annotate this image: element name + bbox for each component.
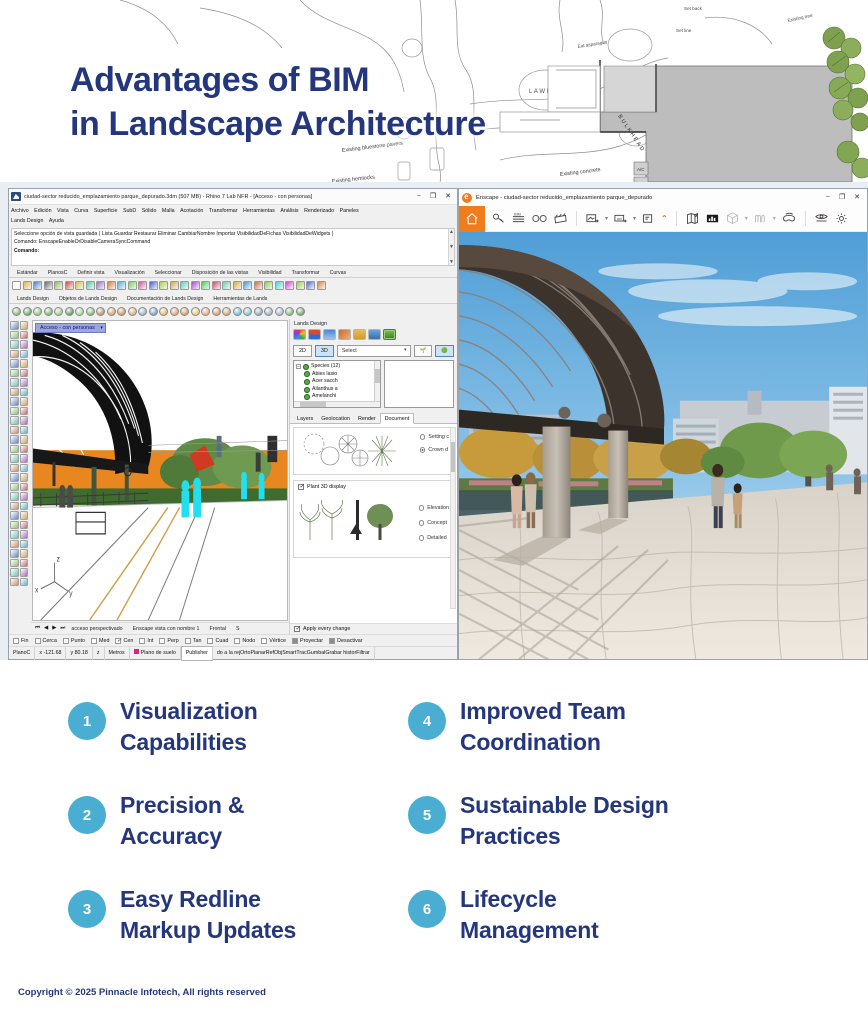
left-tool-icon-29[interactable] bbox=[20, 454, 29, 463]
left-tool-icon-6[interactable] bbox=[10, 350, 19, 359]
toolbar-tab-0[interactable]: Estándar bbox=[12, 269, 43, 277]
menu-item-4[interactable]: Superficie bbox=[94, 206, 118, 216]
osnap-checkbox bbox=[139, 638, 145, 644]
left-tool-icon-35[interactable] bbox=[20, 483, 29, 492]
rhino-viewport[interactable]: Acceso - con personas bbox=[32, 320, 288, 621]
home-icon[interactable] bbox=[459, 206, 485, 232]
standard-tool-icon-17[interactable] bbox=[191, 281, 200, 290]
status-layer[interactable]: Plano de suelo bbox=[130, 647, 181, 660]
left-tool-icon-41[interactable] bbox=[20, 511, 29, 520]
osnap-checkbox bbox=[234, 638, 240, 644]
chevron-down-icon-3[interactable]: ▾ bbox=[745, 215, 748, 222]
standard-tool-icon-12[interactable] bbox=[138, 281, 147, 290]
rhino-left-toolbar[interactable] bbox=[9, 319, 31, 634]
plants-icon[interactable] bbox=[383, 329, 396, 340]
snap-toggle-1[interactable]: Orto bbox=[240, 647, 250, 660]
scroll-down-icon[interactable]: ▼ bbox=[449, 244, 454, 250]
export-panorama-icon[interactable]: 360 bbox=[613, 211, 628, 226]
advantage-number-4: 4 bbox=[408, 702, 446, 740]
lands-tool-icon-27[interactable] bbox=[296, 307, 305, 316]
osnap-label: Cen bbox=[123, 638, 133, 644]
radio-detailed[interactable]: Detailed bbox=[419, 535, 449, 541]
lands-tool-icon-12[interactable] bbox=[138, 307, 147, 316]
toolbar-tab-5[interactable]: Disposición de las vistas bbox=[187, 269, 254, 277]
enscape-toolbar[interactable]: BIM ▾ 360 bbox=[459, 206, 867, 232]
lands-tool-icon-9[interactable] bbox=[107, 307, 116, 316]
left-tool-icon-12[interactable] bbox=[10, 378, 19, 387]
viewport-view-3[interactable]: S bbox=[236, 626, 240, 632]
plant-3d-display-checkbox[interactable]: Plant 3D display bbox=[298, 484, 449, 490]
osnap-desactivar[interactable]: Desactivar bbox=[329, 638, 362, 644]
osnap-label: Punto bbox=[71, 638, 85, 644]
vr-icon[interactable] bbox=[781, 211, 797, 226]
minimize-icon[interactable]: − bbox=[826, 194, 830, 201]
left-tool-icon-2[interactable] bbox=[10, 331, 19, 340]
species-tree-scrollbar[interactable] bbox=[374, 361, 380, 401]
scroll-more-icon[interactable]: ▼ bbox=[449, 259, 454, 265]
osnap-med[interactable]: Med bbox=[91, 638, 110, 644]
apply-plant-button[interactable]: 🟢 bbox=[435, 345, 454, 357]
osnap-checkbox bbox=[63, 638, 69, 644]
menu-item-10[interactable]: Herramientas bbox=[243, 206, 275, 216]
enscape-tool-icons[interactable]: BIM ▾ 360 bbox=[485, 211, 849, 226]
mode-2d-button[interactable]: 2D bbox=[293, 345, 312, 357]
osnap-cen[interactable]: Cen bbox=[115, 638, 133, 644]
standard-tool-icon-5[interactable] bbox=[65, 281, 74, 290]
left-tool-icon-53[interactable] bbox=[20, 568, 29, 577]
species-item-1[interactable]: Acer sacch bbox=[296, 378, 378, 386]
standard-tool-icon-2[interactable] bbox=[33, 281, 42, 290]
standard-tool-icon-27[interactable] bbox=[296, 281, 305, 290]
standard-tool-icon-25[interactable] bbox=[275, 281, 284, 290]
menu-item-2-0[interactable]: Lands Design bbox=[11, 216, 43, 226]
left-tool-icon-52[interactable] bbox=[10, 568, 19, 577]
lands-tool-icon-24[interactable] bbox=[264, 307, 273, 316]
viewport-view-0[interactable]: acceso perspectivado bbox=[71, 626, 122, 632]
standard-tool-icon-18[interactable] bbox=[201, 281, 210, 290]
species-tree-root[interactable]: − Species (12) bbox=[296, 363, 378, 371]
video-icon[interactable] bbox=[531, 211, 548, 226]
toolbar-tab-2[interactable]: Definir vista bbox=[72, 269, 109, 277]
left-tool-icon-5[interactable] bbox=[20, 340, 29, 349]
menu-item-2-1[interactable]: Ayuda bbox=[49, 216, 64, 226]
left-tool-icon-48[interactable] bbox=[10, 549, 19, 558]
close-icon[interactable]: ✕ bbox=[854, 194, 860, 201]
viewport-arrow-0[interactable]: ⏮ bbox=[35, 625, 40, 632]
panel-document-tabs[interactable]: LayersGeolocationRenderDocument bbox=[290, 411, 457, 424]
view-icon[interactable] bbox=[814, 211, 829, 226]
rhino-osnap-bar[interactable]: FinCercaPuntoMedCenIntPerpTanCuadNodoVér… bbox=[9, 634, 457, 646]
left-tool-icon-43[interactable] bbox=[20, 521, 29, 530]
snap-toggle-4[interactable]: SmartTrac bbox=[282, 647, 307, 660]
standard-tool-icon-29[interactable] bbox=[317, 281, 326, 290]
apply-every-change-checkbox[interactable]: Apply every change bbox=[294, 626, 453, 632]
menu-item-13[interactable]: Paneles bbox=[340, 206, 359, 216]
left-tool-icon-44[interactable] bbox=[10, 530, 19, 539]
left-tool-icon-11[interactable] bbox=[20, 369, 29, 378]
svg-text:BIM: BIM bbox=[514, 212, 521, 216]
lands-tool-icon-26[interactable] bbox=[285, 307, 294, 316]
snap-toggle-5[interactable]: Gumbal bbox=[307, 647, 326, 660]
standard-tool-icon-23[interactable] bbox=[254, 281, 263, 290]
lands-tool-icon-7[interactable] bbox=[86, 307, 95, 316]
tree-expand-toggle[interactable]: − bbox=[296, 364, 301, 369]
page-title-line1: Advantages of BIM bbox=[70, 58, 486, 102]
left-tool-icon-16[interactable] bbox=[10, 397, 19, 406]
standard-tool-icon-19[interactable] bbox=[212, 281, 221, 290]
menu-item-2[interactable]: Vista bbox=[57, 206, 69, 216]
standard-tool-icon-22[interactable] bbox=[243, 281, 252, 290]
left-tool-icon-27[interactable] bbox=[20, 445, 29, 454]
advantage-number-6: 6 bbox=[408, 890, 446, 928]
osnap-cuad[interactable]: Cuad bbox=[207, 638, 228, 644]
standard-tool-icon-21[interactable] bbox=[233, 281, 242, 290]
left-tool-icon-21[interactable] bbox=[20, 416, 29, 425]
left-tool-icon-0[interactable] bbox=[10, 321, 19, 330]
lands-tool-icon-18[interactable] bbox=[201, 307, 210, 316]
left-tool-icon-22[interactable] bbox=[10, 426, 19, 435]
left-tool-icon-55[interactable] bbox=[20, 578, 29, 587]
advantage-5-line1: Sustainable Design bbox=[460, 790, 669, 821]
panel-document-content: Setting c Crown d Plant bbox=[290, 424, 457, 623]
toolbar-tab-8[interactable]: Curvas bbox=[325, 269, 351, 277]
snap-toggle-2[interactable]: Planar bbox=[250, 647, 265, 660]
left-tool-icon-54[interactable] bbox=[10, 578, 19, 587]
osnap-vértice[interactable]: Vértice bbox=[261, 638, 286, 644]
left-tool-icon-45[interactable] bbox=[20, 530, 29, 539]
asset-icon[interactable] bbox=[753, 211, 768, 226]
radio-setting[interactable]: Setting c bbox=[420, 434, 449, 440]
left-tool-icon-18[interactable] bbox=[10, 407, 19, 416]
standard-tool-icon-4[interactable] bbox=[54, 281, 63, 290]
plant-3d-radio-group[interactable]: Elevation Concept Detailed bbox=[419, 505, 449, 541]
panel-tab-layers[interactable]: Layers bbox=[293, 414, 317, 423]
viewport-nav-items[interactable]: acceso perspectivadoEnscape vista con no… bbox=[71, 626, 239, 632]
lands-tool-icon-19[interactable] bbox=[212, 307, 221, 316]
toolbar-tab-7[interactable]: Transformar bbox=[287, 269, 325, 277]
left-tool-icon-4[interactable] bbox=[10, 340, 19, 349]
viewport-scene: z x y bbox=[33, 321, 287, 620]
left-tool-icon-36[interactable] bbox=[10, 492, 19, 501]
left-tool-icon-10[interactable] bbox=[10, 369, 19, 378]
left-tool-icon-25[interactable] bbox=[20, 435, 29, 444]
left-tool-icon-33[interactable] bbox=[20, 473, 29, 482]
snap-toggle-7[interactable]: Filtrar bbox=[356, 647, 370, 660]
panel-tab-geolocation[interactable]: Geolocation bbox=[317, 414, 354, 423]
left-tool-icon-19[interactable] bbox=[20, 407, 29, 416]
advantage-item-2: 2 Precision & Accuracy bbox=[68, 790, 244, 852]
lands-tab-1[interactable]: Objetos de Lands Design bbox=[54, 295, 122, 303]
export-exe-icon[interactable] bbox=[641, 211, 656, 226]
menu-item-11[interactable]: Análisis bbox=[280, 206, 298, 216]
menu-item-0[interactable]: Archivo bbox=[11, 206, 29, 216]
lands-tab-2[interactable]: Documentación de Lands Design bbox=[122, 295, 208, 303]
left-tool-icon-46[interactable] bbox=[10, 540, 19, 549]
scroll-up-icon[interactable]: ▲ bbox=[449, 229, 454, 235]
panel-mode-row: 2D 3D Select 🌱 🟢 bbox=[290, 342, 457, 360]
lights-icon[interactable] bbox=[323, 329, 336, 340]
radio-setting-dot bbox=[420, 434, 426, 440]
osnap-int[interactable]: Int bbox=[139, 638, 153, 644]
osnap-proyectar[interactable]: Proyectar bbox=[292, 638, 323, 644]
eyedropper-icon[interactable] bbox=[338, 329, 351, 340]
minimize-icon[interactable]: − bbox=[417, 193, 421, 200]
advantages-list: 1 Visualization Capabilities 2 Precision… bbox=[0, 668, 868, 968]
command-scrollbar[interactable]: ▲ ▼ ▼ bbox=[448, 229, 454, 265]
viewport-view-2[interactable]: Frontal bbox=[209, 626, 226, 632]
species-leaf-icon bbox=[304, 394, 310, 400]
insert-plant-button[interactable]: 🌱 bbox=[414, 345, 433, 357]
rhino-toolbar-icons-2[interactable] bbox=[9, 304, 457, 319]
left-tool-icon-51[interactable] bbox=[20, 559, 29, 568]
lands-tool-icon-13[interactable] bbox=[149, 307, 158, 316]
standard-tool-icon-6[interactable] bbox=[75, 281, 84, 290]
panel-tab-icons[interactable] bbox=[290, 329, 457, 342]
left-tool-icon-39[interactable] bbox=[20, 502, 29, 511]
lands-tool-icon-21[interactable] bbox=[233, 307, 242, 316]
lands-tool-icon-5[interactable] bbox=[65, 307, 74, 316]
map-icon[interactable] bbox=[685, 211, 700, 226]
toolbar-tab-1[interactable]: PlanosC bbox=[43, 269, 73, 277]
osnap-label: Nodo bbox=[242, 638, 255, 644]
osnap-fin[interactable]: Fin bbox=[13, 638, 29, 644]
lands-tool-icon-2[interactable] bbox=[33, 307, 42, 316]
cube-icon[interactable] bbox=[725, 211, 740, 226]
lands-tool-icon-25[interactable] bbox=[275, 307, 284, 316]
left-tool-icon-15[interactable] bbox=[20, 388, 29, 397]
left-tool-icon-38[interactable] bbox=[10, 502, 19, 511]
left-tool-icon-8[interactable] bbox=[10, 359, 19, 368]
lands-tool-icon-1[interactable] bbox=[23, 307, 32, 316]
left-tool-icon-47[interactable] bbox=[20, 540, 29, 549]
lands-tool-icon-8[interactable] bbox=[96, 307, 105, 316]
radio-concept-dot bbox=[419, 520, 425, 526]
osnap-label: Med bbox=[99, 638, 110, 644]
lands-tool-icon-20[interactable] bbox=[222, 307, 231, 316]
chevron-down-icon[interactable]: ▾ bbox=[605, 215, 608, 222]
advantage-item-1: 1 Visualization Capabilities bbox=[68, 696, 258, 758]
viewport-name-dropdown[interactable]: Acceso - con personas bbox=[35, 323, 106, 333]
status-units: Metros bbox=[105, 647, 130, 660]
toolbar-tab-4[interactable]: Seleccionar bbox=[150, 269, 187, 277]
rhino-toolbar-tabs-2[interactable]: Lands DesignObjetos de Lands DesignDocum… bbox=[9, 293, 457, 304]
standard-tool-icon-15[interactable] bbox=[170, 281, 179, 290]
species-tree-hscrollbar[interactable] bbox=[294, 401, 380, 407]
viewport-arrow-1[interactable]: ◀ bbox=[44, 625, 48, 632]
standard-tool-icon-11[interactable] bbox=[128, 281, 137, 290]
export-image-icon[interactable] bbox=[585, 211, 600, 226]
plant-2d-radio-group[interactable]: Setting c Crown d bbox=[420, 434, 449, 453]
rhino-command-area[interactable]: Seleccione opción de vista guardada ( Li… bbox=[11, 228, 455, 266]
lands-tool-icon-10[interactable] bbox=[117, 307, 126, 316]
osnap-cerca[interactable]: Cerca bbox=[35, 638, 57, 644]
maximize-icon[interactable]: ❐ bbox=[430, 193, 436, 200]
left-tool-icon-26[interactable] bbox=[10, 445, 19, 454]
left-tool-icon-13[interactable] bbox=[20, 378, 29, 387]
advantage-2-line1: Precision & bbox=[120, 790, 244, 821]
standard-tool-icon-7[interactable] bbox=[86, 281, 95, 290]
left-tool-icon-1[interactable] bbox=[20, 321, 29, 330]
osnap-label: Desactivar bbox=[337, 638, 362, 644]
viewport-arrow-2[interactable]: ▶ bbox=[52, 625, 56, 632]
lands-tool-icon-22[interactable] bbox=[243, 307, 252, 316]
toolbar-tab-6[interactable]: Visibilidad bbox=[253, 269, 286, 277]
bim-icon[interactable]: BIM bbox=[511, 211, 526, 226]
standard-tool-icon-8[interactable] bbox=[96, 281, 105, 290]
osnap-label: Tan bbox=[193, 638, 202, 644]
standard-tool-icon-16[interactable] bbox=[180, 281, 189, 290]
lands-tool-icon-14[interactable] bbox=[159, 307, 168, 316]
advantage-text-3: Easy Redline Markup Updates bbox=[120, 884, 296, 946]
snap-toggle-0[interactable]: do a la rej bbox=[217, 647, 240, 660]
lands-tool-icon-17[interactable] bbox=[191, 307, 200, 316]
left-tool-icon-9[interactable] bbox=[20, 359, 29, 368]
lands-tool-icon-0[interactable] bbox=[12, 307, 21, 316]
species-item-0[interactable]: Abies lasio bbox=[296, 371, 378, 379]
collapse-icon[interactable]: ⌃ bbox=[661, 214, 668, 223]
lands-tool-icon-3[interactable] bbox=[44, 307, 53, 316]
maximize-icon[interactable]: ❐ bbox=[839, 194, 845, 201]
advantage-3-line1: Easy Redline bbox=[120, 884, 296, 915]
standard-tool-icon-14[interactable] bbox=[159, 281, 168, 290]
left-tool-icon-31[interactable] bbox=[20, 464, 29, 473]
left-tool-icon-3[interactable] bbox=[20, 331, 29, 340]
standard-tool-icon-26[interactable] bbox=[285, 281, 294, 290]
close-icon[interactable]: ✕ bbox=[445, 193, 451, 200]
menu-item-1[interactable]: Edición bbox=[34, 206, 51, 216]
menu-item-8[interactable]: Acotación bbox=[180, 206, 203, 216]
species-leaf-icon bbox=[304, 387, 310, 393]
snap-toggle-6[interactable]: Grabar histor bbox=[325, 647, 356, 660]
left-tool-icon-50[interactable] bbox=[10, 559, 19, 568]
materials-icon[interactable] bbox=[308, 329, 321, 340]
osnap-tan[interactable]: Tan bbox=[185, 638, 202, 644]
lands-tool-icon-23[interactable] bbox=[254, 307, 263, 316]
standard-tool-icon-0[interactable] bbox=[12, 281, 21, 290]
osnap-punto[interactable]: Punto bbox=[63, 638, 85, 644]
header-banner: LAWN BULKHEAD bbox=[0, 0, 868, 182]
menu-item-9[interactable]: Transformar bbox=[209, 206, 238, 216]
color-wheel-icon[interactable] bbox=[293, 329, 306, 340]
rhino-toolbar-icons-1[interactable] bbox=[9, 278, 457, 293]
key-icon[interactable] bbox=[491, 211, 506, 226]
standard-tool-icon-28[interactable] bbox=[306, 281, 315, 290]
viewport-arrow-3[interactable]: ⏭ bbox=[60, 625, 65, 632]
species-leaf-icon bbox=[304, 371, 310, 377]
species-tree[interactable]: − Species (12) Abies lasioAcer sacchAila… bbox=[293, 360, 381, 408]
left-tool-icon-30[interactable] bbox=[10, 464, 19, 473]
left-tool-icon-14[interactable] bbox=[10, 388, 19, 397]
left-tool-icon-24[interactable] bbox=[10, 435, 19, 444]
plant-2d-symbols bbox=[298, 430, 398, 472]
plant-3d-display-card: Plant 3D display bbox=[293, 480, 454, 558]
chevron-down-icon-2[interactable]: ▾ bbox=[633, 215, 636, 222]
panel-tab-document[interactable]: Document bbox=[380, 413, 415, 424]
lands-tab-0[interactable]: Lands Design bbox=[12, 295, 54, 303]
enscape-app-icon bbox=[462, 193, 472, 203]
osnap-nodo[interactable]: Nodo bbox=[234, 638, 255, 644]
menu-item-3[interactable]: Curva bbox=[74, 206, 88, 216]
left-tool-icon-7[interactable] bbox=[20, 350, 29, 359]
snap-toggle-3[interactable]: RefObj bbox=[266, 647, 283, 660]
lands-tool-icon-11[interactable] bbox=[128, 307, 137, 316]
radio-concept[interactable]: Concept bbox=[419, 520, 449, 526]
standard-tool-icon-13[interactable] bbox=[149, 281, 158, 290]
clapper-icon[interactable] bbox=[553, 211, 568, 226]
left-tool-icon-32[interactable] bbox=[10, 473, 19, 482]
left-tool-icon-17[interactable] bbox=[20, 397, 29, 406]
lands-tool-icon-16[interactable] bbox=[180, 307, 189, 316]
radio-crown[interactable]: Crown d bbox=[420, 447, 449, 453]
status-snap-items[interactable]: do a la rejOrtoPlanarRefObjSmartTracGumb… bbox=[213, 647, 375, 660]
advantage-6-line1: Lifecycle bbox=[460, 884, 599, 915]
library-icon[interactable] bbox=[368, 329, 381, 340]
chart-icon[interactable] bbox=[705, 211, 720, 226]
rhino-status-bar: PlanoC x -121.68 y 80.18 z Metros Plano … bbox=[9, 646, 457, 659]
rhino-window: ciudad-sector reducido_emplazamiento par… bbox=[8, 188, 458, 660]
enscape-render-viewport[interactable] bbox=[459, 232, 867, 659]
menu-item-6[interactable]: Sólido bbox=[142, 206, 157, 216]
radio-elevation[interactable]: Elevation bbox=[419, 505, 449, 511]
lands-tool-icon-6[interactable] bbox=[75, 307, 84, 316]
advantage-item-3: 3 Easy Redline Markup Updates bbox=[68, 884, 296, 946]
species-select[interactable]: Select bbox=[337, 345, 411, 357]
viewport-nav-arrows[interactable]: ⏮◀▶⏭ bbox=[35, 625, 65, 632]
standard-tool-icon-20[interactable] bbox=[222, 281, 231, 290]
menu-item-5[interactable]: SubD bbox=[123, 206, 136, 216]
toolbar-tab-3[interactable]: Visualización bbox=[109, 269, 149, 277]
left-tool-icon-42[interactable] bbox=[10, 521, 19, 530]
lands-tab-3[interactable]: Herramientas de Lands bbox=[208, 295, 272, 303]
standard-tool-icon-1[interactable] bbox=[23, 281, 32, 290]
advantage-6-line2: Management bbox=[460, 915, 599, 946]
species-root-label: Species (12) bbox=[311, 363, 340, 371]
left-tool-icon-49[interactable] bbox=[20, 549, 29, 558]
folder-icon[interactable] bbox=[353, 329, 366, 340]
species-item-3[interactable]: Amelanchi bbox=[296, 393, 378, 401]
osnap-perp[interactable]: Perp bbox=[159, 638, 178, 644]
chevron-down-icon-4[interactable]: ▾ bbox=[773, 215, 776, 222]
standard-tool-icon-24[interactable] bbox=[264, 281, 273, 290]
advantage-text-6: Lifecycle Management bbox=[460, 884, 599, 946]
viewport-named-views-bar[interactable]: ⏮◀▶⏭ acceso perspectivadoEnscape vista c… bbox=[31, 622, 289, 634]
advantage-4-line2: Coordination bbox=[460, 727, 626, 758]
standard-tool-icon-3[interactable] bbox=[44, 281, 53, 290]
menu-item-7[interactable]: Malla bbox=[162, 206, 175, 216]
menu-item-12[interactable]: Renderizado bbox=[304, 206, 334, 216]
mode-3d-button[interactable]: 3D bbox=[315, 345, 334, 357]
settings-icon[interactable] bbox=[834, 211, 849, 226]
advantage-text-1: Visualization Capabilities bbox=[120, 696, 258, 758]
lands-tool-icon-4[interactable] bbox=[54, 307, 63, 316]
standard-tool-icon-9[interactable] bbox=[107, 281, 116, 290]
panel-tab-render[interactable]: Render bbox=[354, 414, 380, 423]
advantage-number-2: 2 bbox=[68, 796, 106, 834]
left-tool-icon-28[interactable] bbox=[10, 454, 19, 463]
species-item-2[interactable]: Ailanthus a bbox=[296, 386, 378, 394]
document-scrollbar[interactable] bbox=[450, 427, 456, 609]
rhino-toolbar-tabs-1[interactable]: EstándarPlanosCDefinir vistaVisualizació… bbox=[9, 267, 457, 278]
left-tool-icon-37[interactable] bbox=[20, 492, 29, 501]
viewport-view-1[interactable]: Enscape vista con nombre 1 bbox=[133, 626, 200, 632]
left-tool-icon-23[interactable] bbox=[20, 426, 29, 435]
species-root-icon bbox=[303, 364, 309, 370]
left-tool-icon-20[interactable] bbox=[10, 416, 19, 425]
lands-tool-icon-15[interactable] bbox=[170, 307, 179, 316]
standard-tool-icon-10[interactable] bbox=[117, 281, 126, 290]
left-tool-icon-40[interactable] bbox=[10, 511, 19, 520]
left-tool-icon-34[interactable] bbox=[10, 483, 19, 492]
